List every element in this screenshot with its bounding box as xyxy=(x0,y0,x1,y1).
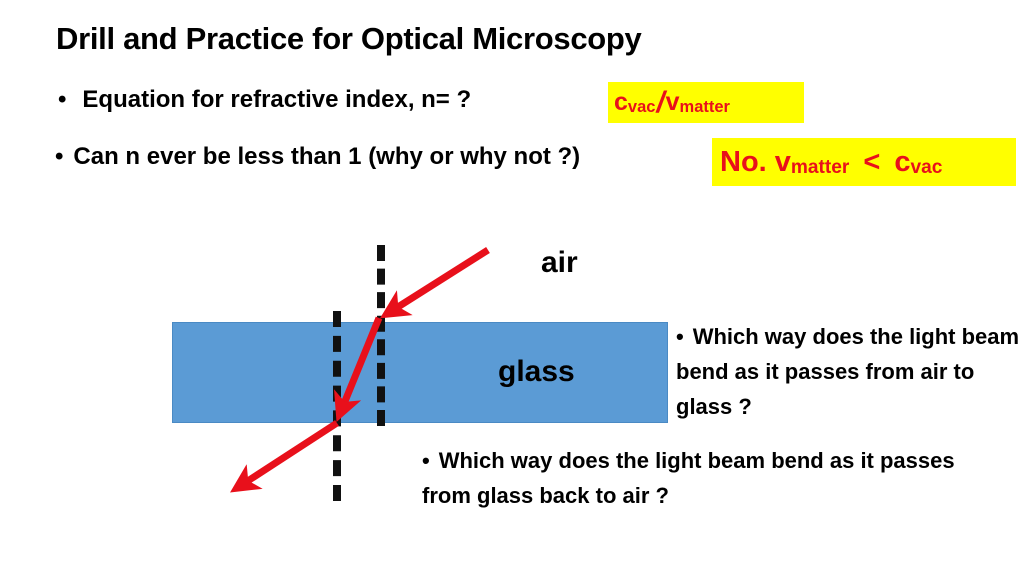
incident-ray xyxy=(390,250,488,312)
bullet-icon: • xyxy=(58,86,66,114)
bullet-icon: • xyxy=(422,444,430,479)
normal-at-entry-line xyxy=(377,245,385,426)
exit-ray xyxy=(240,423,337,486)
side-question-bottom-text: Which way does the light beam bend as it… xyxy=(422,448,955,508)
answer-2-trail-subscript: vac xyxy=(910,157,942,179)
answer-1-denominator: v xyxy=(666,88,680,117)
answer-1-numerator-subscript: vac xyxy=(628,98,656,117)
answer-1-divider: / xyxy=(655,86,665,120)
side-question-bottom: •Which way does the light beam bend as i… xyxy=(422,444,1002,514)
slide-canvas: Drill and Practice for Optical Microscop… xyxy=(0,0,1024,576)
answer-2-lead-subscript: matter xyxy=(791,157,849,179)
label-air: air xyxy=(541,246,578,280)
bullet-icon: • xyxy=(55,143,63,171)
question-line-1: •Equation for refractive index, n= ? xyxy=(58,86,471,114)
page-title: Drill and Practice for Optical Microscop… xyxy=(56,22,641,56)
side-question-right-text: Which way does the light beam bend as it… xyxy=(676,324,1019,419)
answer-1-numerator: c xyxy=(614,88,628,117)
question-1-text: Equation for refractive index, n= ? xyxy=(82,86,471,113)
answer-1-denominator-subscript: matter xyxy=(680,98,730,117)
answer-highlight-2: No. vmatter<cvac xyxy=(712,138,1016,186)
side-question-right: •Which way does the light beam bend as i… xyxy=(676,320,1024,424)
normal-at-exit-line xyxy=(333,311,341,501)
answer-2-lead: No. v xyxy=(720,146,791,179)
question-line-2: •Can n ever be less than 1 (why or why n… xyxy=(55,143,580,171)
bullet-icon: • xyxy=(676,320,684,355)
label-glass: glass xyxy=(498,355,575,389)
answer-2-operator: < xyxy=(863,146,880,179)
answer-highlight-1: cvac/vmatter xyxy=(608,82,804,123)
question-2-text: Can n ever be less than 1 (why or why no… xyxy=(73,143,580,170)
answer-2-trail: c xyxy=(894,146,910,179)
glass-block-shape xyxy=(172,322,668,423)
